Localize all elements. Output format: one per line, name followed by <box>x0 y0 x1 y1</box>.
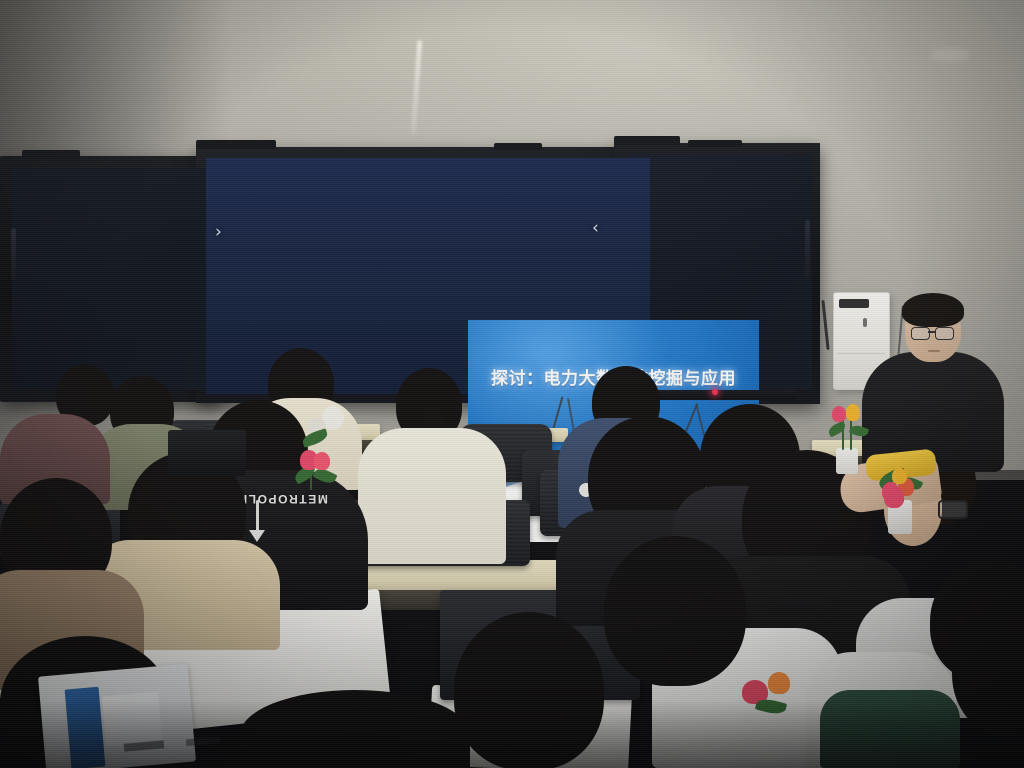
flower-petal <box>832 406 846 422</box>
down-arrow-icon <box>256 500 259 534</box>
presenter-mouth <box>928 350 940 352</box>
flower-petal <box>768 672 790 694</box>
audience-torso-fleece <box>358 428 506 564</box>
flower-petal <box>314 452 330 470</box>
down-arrow-head-icon <box>249 530 265 542</box>
eyeglasses-icon <box>938 500 968 519</box>
flower-vase <box>836 448 858 474</box>
panel-mount-tab <box>494 143 542 150</box>
eyeglasses-bridge-icon <box>928 331 935 333</box>
flower-petal <box>884 486 904 508</box>
ac-panel-seam <box>837 353 885 354</box>
flower-petal <box>846 404 860 421</box>
display-side-buttons-left[interactable] <box>11 228 16 280</box>
flower-petal <box>892 468 907 484</box>
laptop-screen <box>168 430 246 476</box>
display-screen-left[interactable] <box>12 168 214 390</box>
presenter-hair <box>902 293 964 327</box>
display-side-buttons-right[interactable] <box>805 220 810 280</box>
lecture-hall-photo: 探讨：电力大数据的挖掘与应用 孙辰昊 长沙理工大学 › ‹ <box>0 0 1024 768</box>
chevron-left-icon[interactable]: ‹ <box>592 220 599 237</box>
panel-mount-tab <box>22 150 80 159</box>
chevron-right-icon[interactable]: › <box>215 224 222 241</box>
panel-mount-tab <box>614 136 680 145</box>
panel-mount-tab <box>196 140 276 149</box>
ac-vent-grille <box>839 299 869 308</box>
foreground-shadow <box>0 700 1024 768</box>
panel-mount-tab <box>688 140 742 147</box>
wall-scuff-mark-2 <box>930 48 970 62</box>
power-led-indicator <box>712 389 718 395</box>
display-screen-center[interactable]: 探讨：电力大数据的挖掘与应用 孙辰昊 长沙理工大学 <box>206 158 650 394</box>
presenter-eyeglasses-right-icon <box>935 327 954 340</box>
ac-indicator <box>863 318 867 327</box>
audience-head-foreground <box>604 536 746 686</box>
presenter-eyeglasses-left-icon <box>911 327 930 340</box>
display-speaker-bar <box>646 390 796 400</box>
